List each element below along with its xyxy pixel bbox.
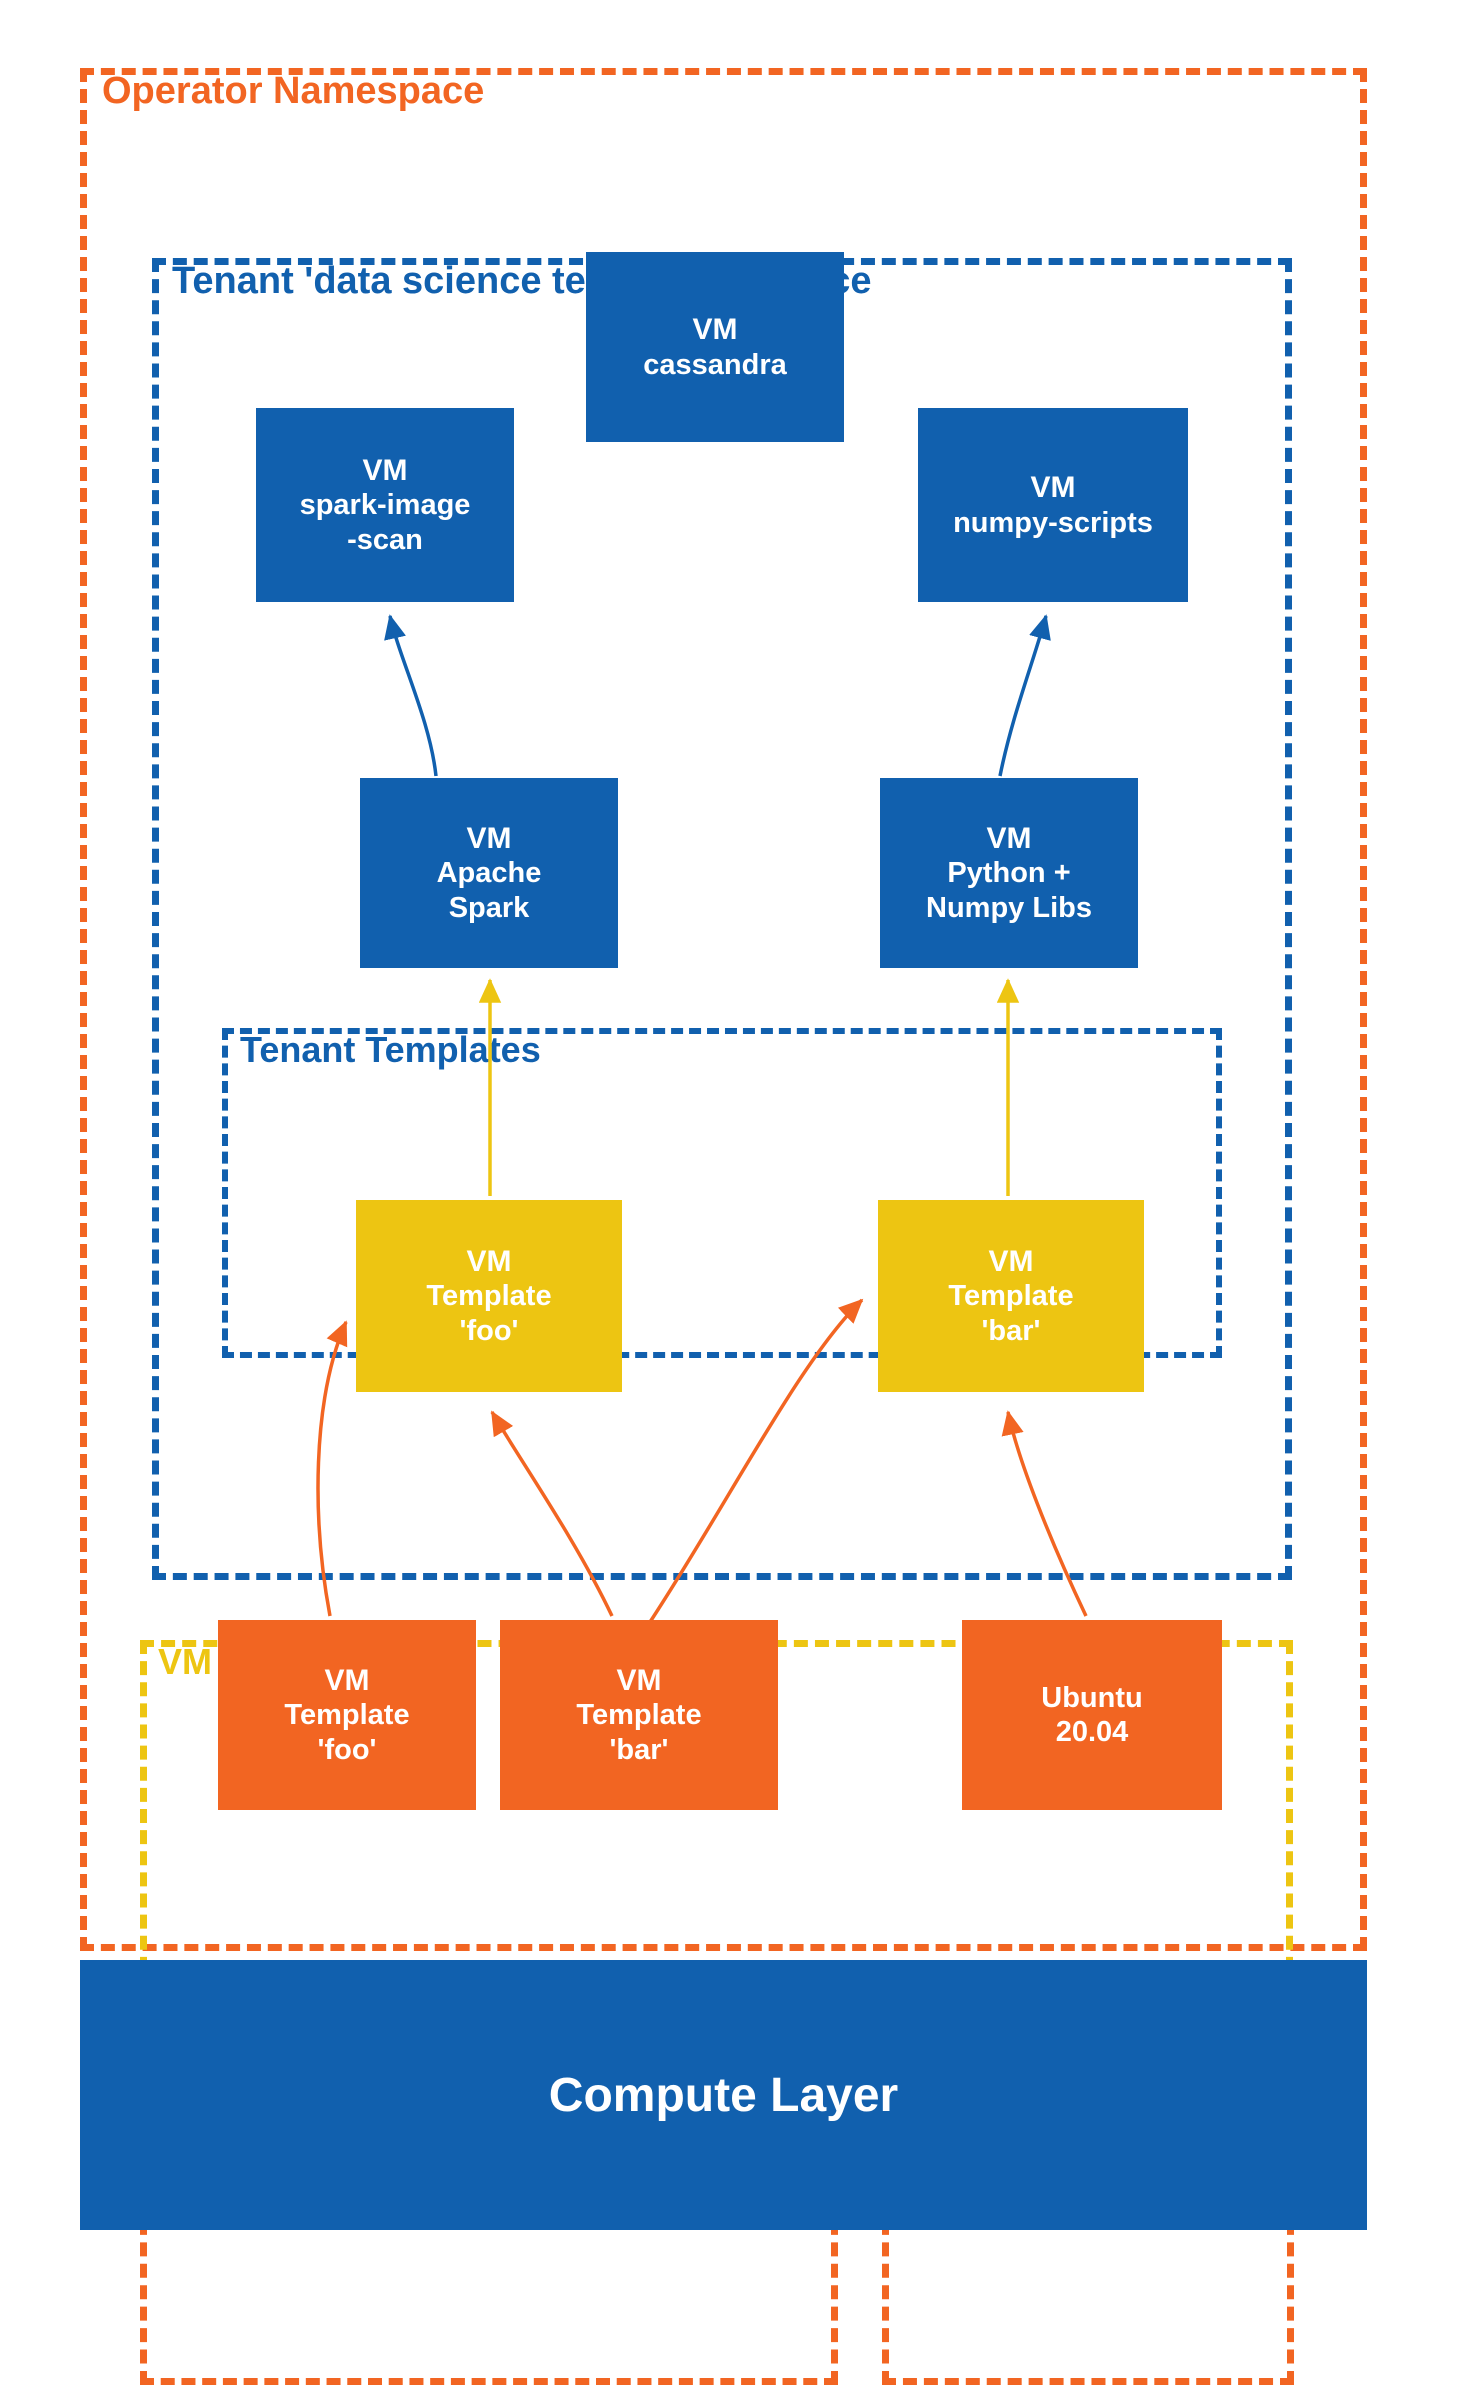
node-name-label-line2: -scan (347, 523, 423, 557)
node-name-label-line2: 20.04 (1056, 1715, 1129, 1749)
node-name-label-line1: Python + (947, 856, 1070, 890)
node-name-label-line2: 'foo' (460, 1314, 519, 1348)
node-name-label-line2: 'bar' (982, 1314, 1041, 1348)
node-vm-template-foo-yellow[interactable]: VM Template 'foo' (356, 1200, 622, 1392)
node-name-label-line1: Template (426, 1279, 551, 1313)
node-name-label-line2: Spark (449, 891, 530, 925)
node-name-label-line1: Ubuntu (1041, 1681, 1142, 1715)
node-vm-template-foo-orange[interactable]: VM Template 'foo' (218, 1620, 476, 1810)
node-kind-label: VM (989, 1244, 1034, 1279)
group-title-operator-namespace: Operator Namespace (102, 72, 484, 110)
node-vm-apache-spark[interactable]: VM Apache Spark (360, 778, 618, 968)
node-vm-template-bar-orange[interactable]: VM Template 'bar' (500, 1620, 778, 1810)
node-name-label-line1: spark-image (300, 488, 471, 522)
node-vm-numpy-scripts[interactable]: VM numpy-scripts (918, 408, 1188, 602)
node-vm-python-numpy-libs[interactable]: VM Python + Numpy Libs (880, 778, 1138, 968)
node-kind-label: VM (467, 821, 512, 856)
compute-layer-label: Compute Layer (549, 2068, 898, 2123)
node-name-label-line1: Template (284, 1698, 409, 1732)
node-kind-label: VM (987, 821, 1032, 856)
node-name-label: cassandra (643, 348, 787, 382)
node-name-label-line2: 'bar' (610, 1733, 669, 1767)
node-name-label-line1: Template (948, 1279, 1073, 1313)
node-kind-label: VM (1031, 470, 1076, 505)
node-name-label-line1: Apache (437, 856, 542, 890)
compute-layer-bar: Compute Layer (80, 1960, 1367, 2230)
diagram-canvas: Operator Namespace Tenant 'data science … (0, 0, 1457, 2316)
node-kind-label: VM (467, 1244, 512, 1279)
node-name-label-line1: Template (576, 1698, 701, 1732)
node-vm-cassandra[interactable]: VM cassandra (586, 252, 844, 442)
node-kind-label: VM (693, 312, 738, 347)
node-name-label: numpy-scripts (953, 506, 1153, 540)
node-kind-label: VM (363, 453, 408, 488)
node-name-label-line2: 'foo' (318, 1733, 377, 1767)
node-kind-label: VM (325, 1663, 370, 1698)
node-vm-template-bar-yellow[interactable]: VM Template 'bar' (878, 1200, 1144, 1392)
node-image-ubuntu[interactable]: Ubuntu 20.04 (962, 1620, 1222, 1810)
node-kind-label: VM (617, 1663, 662, 1698)
node-name-label-line2: Numpy Libs (926, 891, 1092, 925)
node-vm-spark-image-scan[interactable]: VM spark-image -scan (256, 408, 514, 602)
group-title-tenant-templates: Tenant Templates (240, 1032, 541, 1068)
